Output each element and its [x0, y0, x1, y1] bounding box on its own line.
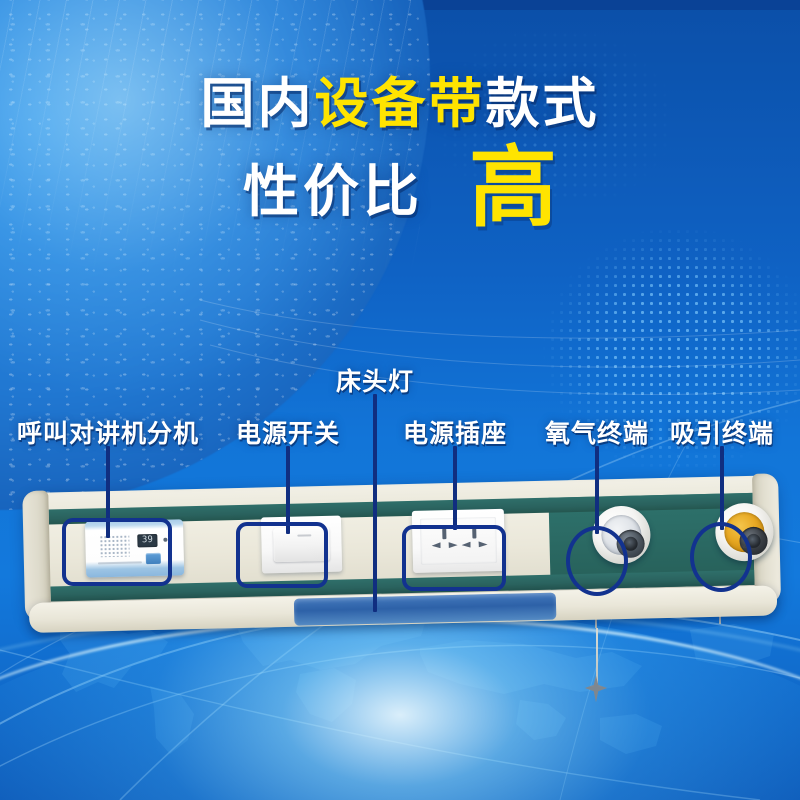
callout-group: 呼叫对讲机分机 电源开关 床头灯 电源插座 氧气终端 吸引终端: [0, 0, 800, 800]
callout-label-intercom: 呼叫对讲机分机: [17, 414, 199, 450]
leader-line-power-switch: [286, 446, 290, 534]
callout-label-oxygen-terminal: 氧气终端: [545, 414, 649, 450]
highlight-intercom: [62, 518, 172, 586]
leader-line-power-socket: [453, 446, 457, 530]
callout-label-power-switch: 电源开关: [236, 414, 340, 450]
leader-line-suction-terminal: [720, 446, 724, 530]
highlight-suction-terminal: [690, 522, 752, 592]
callout-label-suction-terminal: 吸引终端: [670, 414, 774, 450]
leader-line-oxygen-terminal: [595, 446, 599, 534]
promotional-banner: 国内设备带款式 性价比 高 呼叫对讲机分机 电源开关 床头灯 电源插座 氧气终端…: [0, 0, 800, 800]
highlight-power-switch: [236, 522, 328, 588]
highlight-power-socket: [402, 525, 506, 591]
callout-label-power-socket: 电源插座: [403, 414, 507, 450]
callout-label-bed-lamp: 床头灯: [336, 362, 414, 398]
highlight-oxygen-terminal: [566, 526, 628, 596]
leader-line-bed-lamp: [373, 394, 377, 612]
